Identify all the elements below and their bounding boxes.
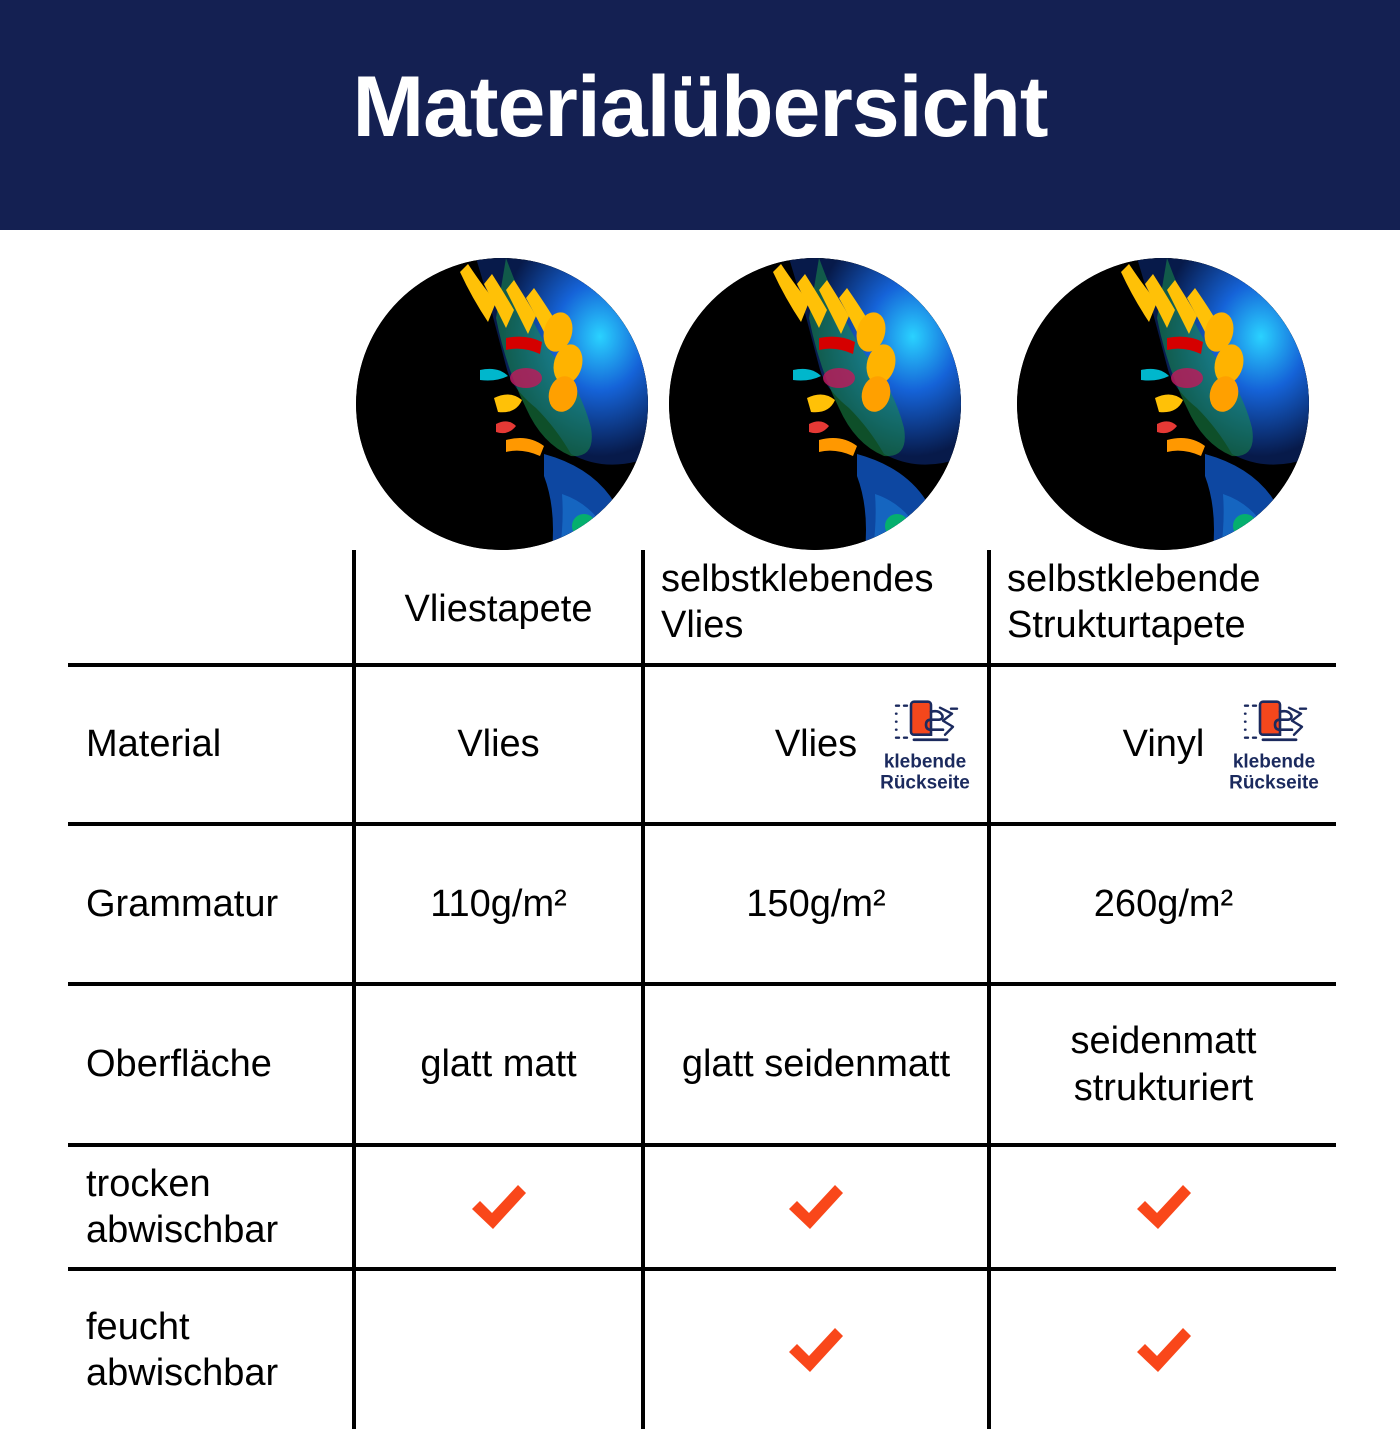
cell-value: Vlies <box>457 721 539 767</box>
cell-feucht-vliestapete <box>352 1271 641 1429</box>
peel-sticky-back-icon <box>888 695 962 749</box>
product-image-vliestapete <box>356 258 648 550</box>
cell-feucht-selbstklebendes-vlies <box>641 1271 987 1429</box>
badge-line-1: klebende <box>1233 751 1315 772</box>
cell-value: 150g/m² <box>746 881 885 927</box>
cell-grammatur-selbstklebendes-vlies: 150g/m² <box>641 826 987 982</box>
cell-oberflaeche-vliestapete: glatt matt <box>352 986 641 1143</box>
table-row: feucht abwischbar <box>68 1267 1336 1429</box>
row-label-material: Material <box>68 667 352 822</box>
row-label: Oberfläche <box>86 1041 272 1087</box>
cell-trocken-selbstklebendes-vlies <box>641 1147 987 1267</box>
neon-face-art-1 <box>356 258 648 550</box>
peel-sticky-back-icon <box>1237 695 1311 749</box>
cell-material-selbstklebendes-vlies: Vlies klebende Rückseite <box>641 667 987 822</box>
sticky-back-badge: klebende Rückseite <box>1218 695 1330 794</box>
checkmark-icon <box>783 1179 849 1235</box>
page-title: Materialübersicht <box>352 64 1047 150</box>
cell-value: Vlies <box>775 721 857 767</box>
cell-value: 260g/m² <box>1094 881 1233 927</box>
cell-value: seidenmatt strukturiert <box>991 1018 1336 1111</box>
row-label: trocken abwischbar <box>86 1161 352 1254</box>
cell-grammatur-selbstklebende-strukturtapete: 260g/m² <box>987 826 1336 982</box>
neon-face-art-2 <box>669 258 961 550</box>
cell-value: glatt seidenmatt <box>682 1041 950 1087</box>
row-label-oberflaeche: Oberfläche <box>68 986 352 1143</box>
row-label: Grammatur <box>86 881 278 927</box>
column-header-selbstklebendes-vlies: selbstklebendes Vlies <box>641 550 987 663</box>
cell-material-vliestapete: Vlies <box>352 667 641 822</box>
checkmark-icon <box>1131 1179 1197 1235</box>
row-label-grammatur: Grammatur <box>68 826 352 982</box>
checkmark-icon <box>1131 1322 1197 1378</box>
product-preview-row <box>0 258 1400 550</box>
badge-line-1: klebende <box>884 751 966 772</box>
row-label-trocken-abwischbar: trocken abwischbar <box>68 1147 352 1267</box>
badge-line-2: Rückseite <box>1229 773 1319 794</box>
sticky-back-badge: klebende Rückseite <box>869 695 981 794</box>
cell-grammatur-vliestapete: 110g/m² <box>352 826 641 982</box>
cell-oberflaeche-selbstklebende-strukturtapete: seidenmatt strukturiert <box>987 986 1336 1143</box>
neon-face-art-3 <box>1017 258 1309 550</box>
cell-value: Vinyl <box>1123 721 1205 767</box>
table-row: trocken abwischbar <box>68 1143 1336 1267</box>
table-header-row: Vliestapete selbstklebendes Vlies selbst… <box>68 550 1336 663</box>
column-header-label: selbstklebende Strukturtapete <box>1007 556 1336 649</box>
column-header-label: Vliestapete <box>404 586 592 632</box>
table-row: Grammatur 110g/m² 150g/m² 260g/m² <box>68 822 1336 982</box>
cell-trocken-vliestapete <box>352 1147 641 1267</box>
product-image-selbstklebende-strukturtapete <box>1017 258 1309 550</box>
cell-value: 110g/m² <box>430 881 567 927</box>
column-header-vliestapete: Vliestapete <box>352 550 641 663</box>
column-header-selbstklebende-strukturtapete: selbstklebende Strukturtapete <box>987 550 1336 663</box>
material-comparison-table: Vliestapete selbstklebendes Vlies selbst… <box>68 550 1336 1429</box>
product-image-selbstklebendes-vlies <box>669 258 961 550</box>
page-header: Materialübersicht <box>0 0 1400 230</box>
checkmark-icon <box>466 1179 532 1235</box>
cell-trocken-selbstklebende-strukturtapete <box>987 1147 1336 1267</box>
row-label-feucht-abwischbar: feucht abwischbar <box>68 1271 352 1429</box>
badge-line-2: Rückseite <box>880 773 970 794</box>
sticky-back-badge-text: klebende Rückseite <box>1229 751 1319 794</box>
table-corner-cell <box>68 550 352 663</box>
row-label: feucht abwischbar <box>86 1304 352 1397</box>
cell-material-selbstklebende-strukturtapete: Vinyl klebende Rückseite <box>987 667 1336 822</box>
cell-value: glatt matt <box>420 1041 576 1087</box>
table-row: Oberfläche glatt matt glatt seidenmatt s… <box>68 982 1336 1143</box>
checkmark-icon <box>783 1322 849 1378</box>
cell-feucht-selbstklebende-strukturtapete <box>987 1271 1336 1429</box>
cell-oberflaeche-selbstklebendes-vlies: glatt seidenmatt <box>641 986 987 1143</box>
table-row: Material Vlies Vlies klebende <box>68 663 1336 822</box>
column-header-label: selbstklebendes Vlies <box>661 556 987 649</box>
sticky-back-badge-text: klebende Rückseite <box>880 751 970 794</box>
row-label: Material <box>86 721 221 767</box>
